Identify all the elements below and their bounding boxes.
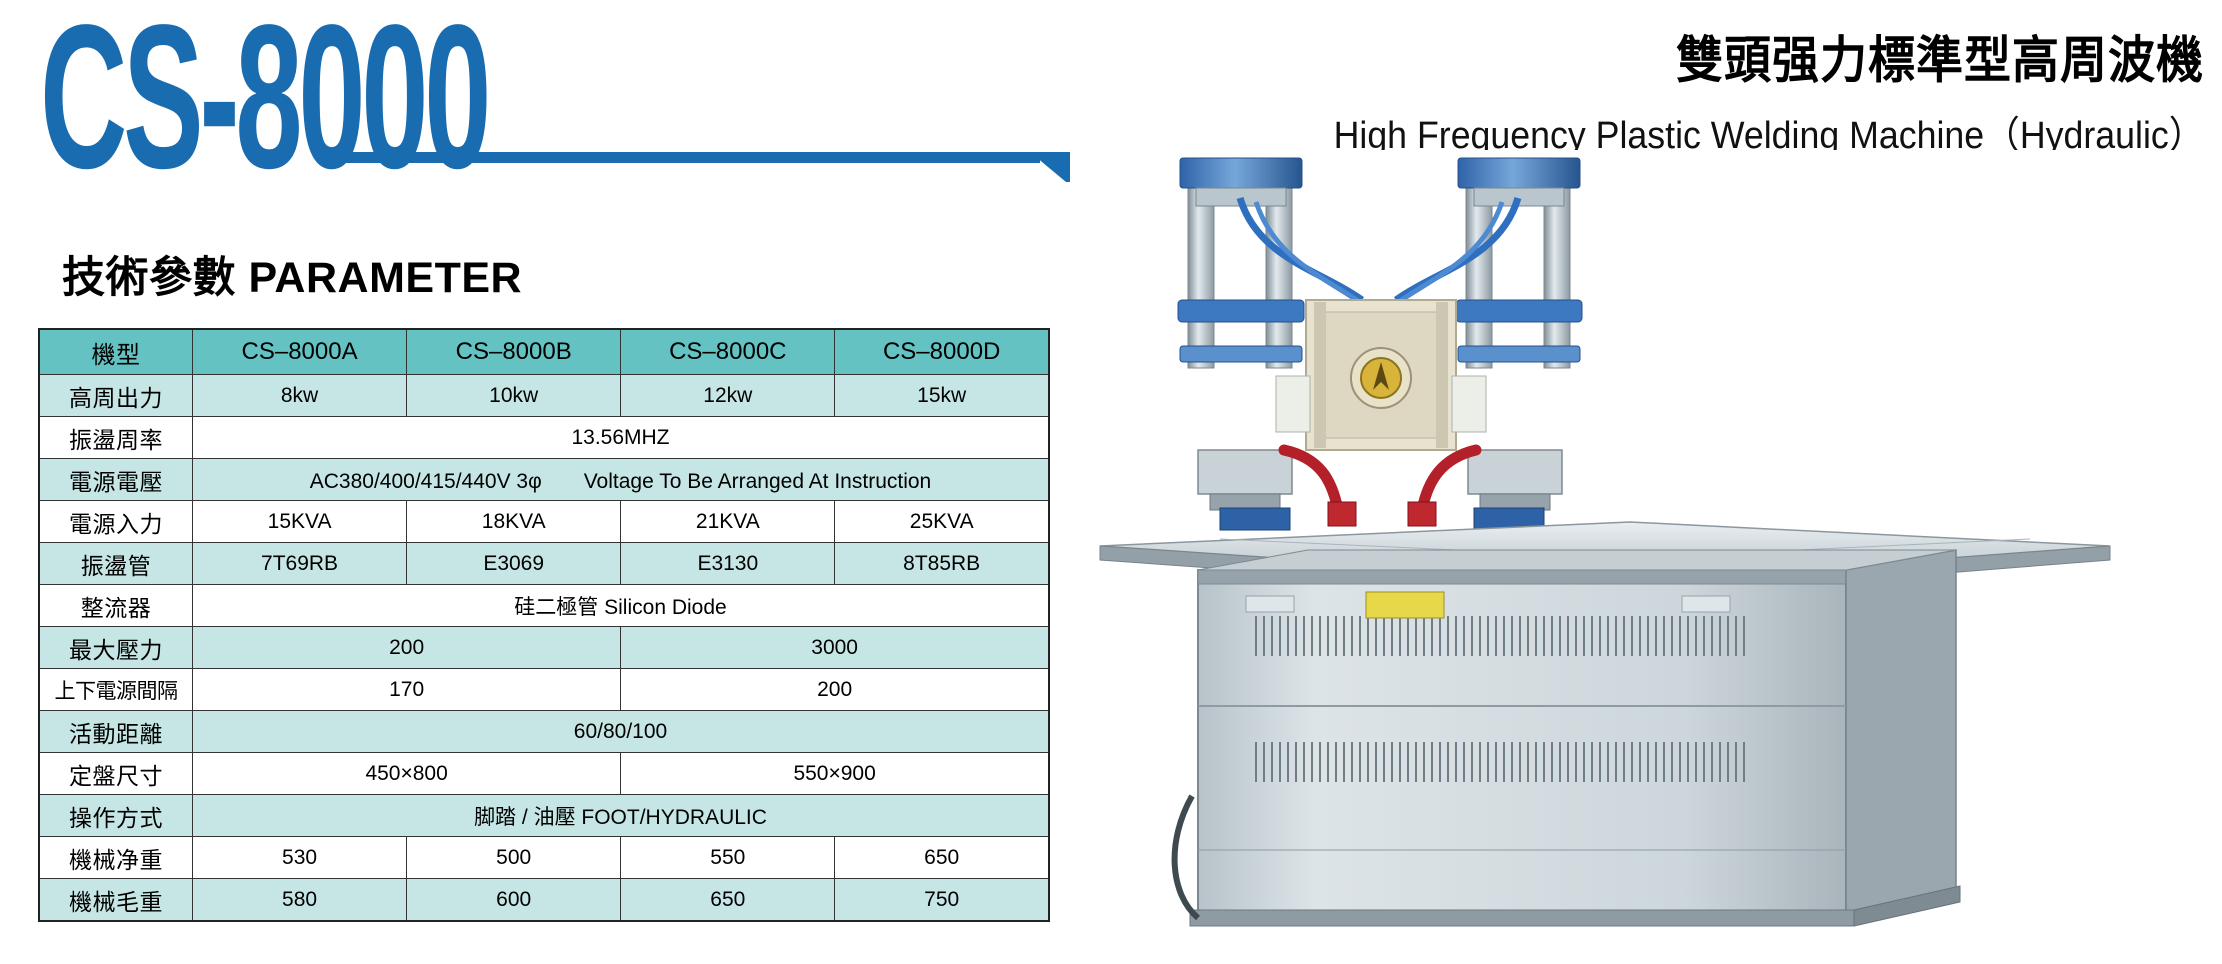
row-label: 振盪周率 (39, 417, 193, 459)
specification-table: 機型CS–8000ACS–8000BCS–8000CCS–8000D高周出力8k… (38, 328, 1050, 922)
row-value: 15KVA (193, 501, 407, 543)
banner-thin-bar (320, 152, 1040, 163)
row-value: 10kw (407, 375, 621, 417)
row-value: 8T85RB (835, 543, 1049, 585)
row-value: 25KVA (835, 501, 1049, 543)
row-value: 550 (621, 837, 835, 879)
row-value: 650 (835, 837, 1049, 879)
row-value: 750 (835, 879, 1049, 922)
row-value-left: 200 (193, 627, 621, 669)
row-label: 上下電源間隔 (39, 669, 193, 711)
row-label: 整流器 (39, 585, 193, 627)
row-label: 最大壓力 (39, 627, 193, 669)
row-value-right: 550×900 (621, 753, 1049, 795)
table-row: 機械毛重580600650750 (39, 879, 1049, 922)
column-header-model: CS–8000B (407, 329, 621, 375)
row-value: 650 (621, 879, 835, 922)
table-row: 上下電源間隔170200 (39, 669, 1049, 711)
row-value-right: 200 (621, 669, 1049, 711)
parameter-section-heading: 技術參數 PARAMETER (62, 243, 522, 305)
row-value: 15kw (835, 375, 1049, 417)
row-value: 7T69RB (193, 543, 407, 585)
row-label: 高周出力 (39, 375, 193, 417)
row-value: E3069 (407, 543, 621, 585)
row-value: 530 (193, 837, 407, 879)
row-value: E3130 (621, 543, 835, 585)
table-row: 定盤尺寸450×800550×900 (39, 753, 1049, 795)
row-value: 21KVA (621, 501, 835, 543)
row-value: 18KVA (407, 501, 621, 543)
row-label: 電源電壓 (39, 459, 193, 501)
table-row: 整流器硅二極管 Silicon Diode (39, 585, 1049, 627)
column-header-model: CS–8000C (621, 329, 835, 375)
row-label: 定盤尺寸 (39, 753, 193, 795)
row-value: 12kw (621, 375, 835, 417)
row-value-right: 3000 (621, 627, 1049, 669)
product-title-chinese: 雙頭强力標準型高周波機 (1676, 18, 2204, 93)
table-row: 高周出力8kw10kw12kw15kw (39, 375, 1049, 417)
table-row: 活動距離60/80/100 (39, 711, 1049, 753)
row-label: 電源入力 (39, 501, 193, 543)
product-photo (1070, 150, 2180, 960)
row-value-merged: 硅二極管 Silicon Diode (193, 585, 1050, 627)
table-row: 振盪管7T69RBE3069E31308T85RB (39, 543, 1049, 585)
table-row: 電源電壓AC380/400/415/440V 3φ Voltage To Be … (39, 459, 1049, 501)
row-label: 機械净重 (39, 837, 193, 879)
table-row: 機械净重530500550650 (39, 837, 1049, 879)
row-value: 500 (407, 837, 621, 879)
row-label: 振盪管 (39, 543, 193, 585)
row-value: 8kw (193, 375, 407, 417)
row-value-merged: 脚踏 / 油壓 FOOT/HYDRAULIC (193, 795, 1050, 837)
column-header-model: CS–8000D (835, 329, 1049, 375)
row-label: 活動距離 (39, 711, 193, 753)
row-value-merged: 13.56MHZ (193, 417, 1050, 459)
table-row: 操作方式脚踏 / 油壓 FOOT/HYDRAULIC (39, 795, 1049, 837)
row-value-left: 170 (193, 669, 621, 711)
row-value-merged: AC380/400/415/440V 3φ Voltage To Be Arra… (193, 459, 1050, 501)
row-value: 600 (407, 879, 621, 922)
row-value-merged: 60/80/100 (193, 711, 1050, 753)
table-header-row: 機型CS–8000ACS–8000BCS–8000CCS–8000D (39, 329, 1049, 375)
row-value-left: 450×800 (193, 753, 621, 795)
table-row: 最大壓力2003000 (39, 627, 1049, 669)
column-header-model: CS–8000A (193, 329, 407, 375)
table-row: 振盪周率13.56MHZ (39, 417, 1049, 459)
row-value: 580 (193, 879, 407, 922)
row-label: 操作方式 (39, 795, 193, 837)
column-header-label: 機型 (39, 329, 193, 375)
row-label: 機械毛重 (39, 879, 193, 922)
table-row: 電源入力15KVA18KVA21KVA25KVA (39, 501, 1049, 543)
